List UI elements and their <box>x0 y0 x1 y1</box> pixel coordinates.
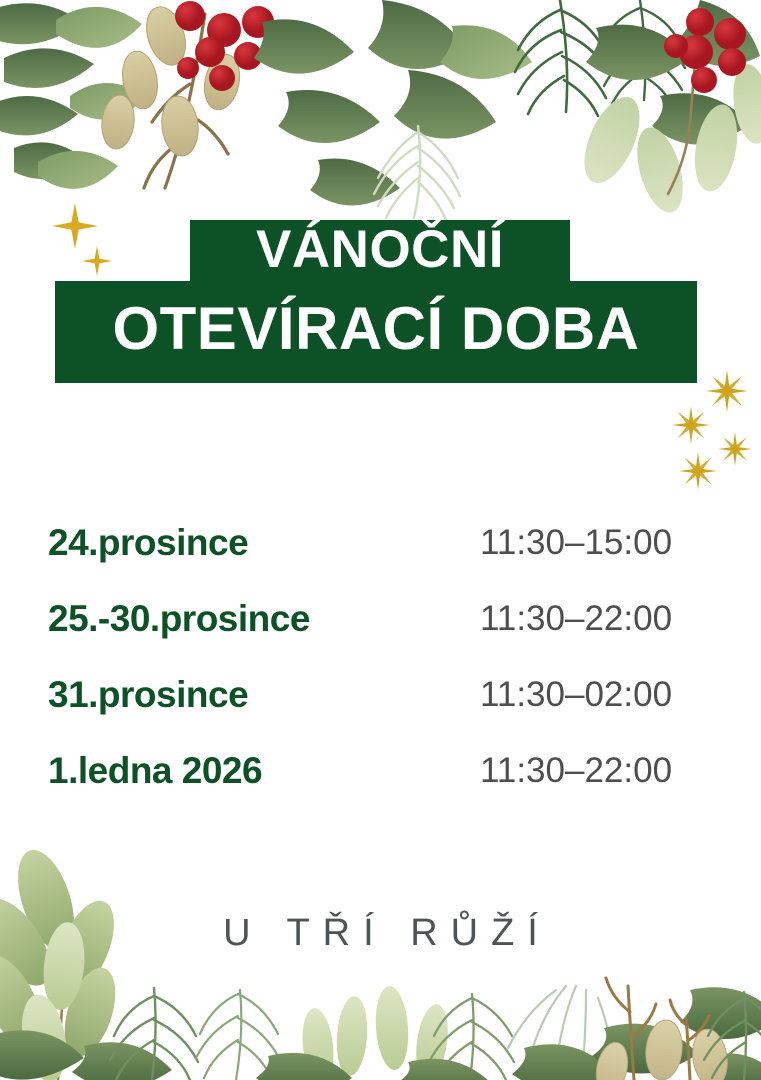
schedule-row: 31.prosince 11:30–02:00 <box>0 657 761 733</box>
botanical-border-bottom <box>0 850 761 1080</box>
top-center-cluster <box>368 0 532 220</box>
botanical-border-top <box>0 0 761 230</box>
sparkle-eight-point-right <box>718 432 752 466</box>
schedule-date: 25.-30.prosince <box>48 598 310 640</box>
title-banner-line1: VÁNOČNÍ <box>190 220 570 283</box>
bottom-center-cluster <box>256 985 514 1080</box>
top-left-cluster <box>0 1 400 206</box>
pine-sprig-right <box>704 992 761 1080</box>
schedule-row: 25.-30.prosince 11:30–22:00 <box>0 581 761 657</box>
sparkle-eight-point-left <box>672 406 710 444</box>
holly-berries-left <box>175 1 274 91</box>
bottom-right-cluster <box>508 978 761 1080</box>
title-banner-line2: OTEVÍRACÍ DOBA <box>55 281 697 383</box>
christmas-opening-hours-poster: VÁNOČNÍ OTEVÍRACÍ DOBA 24.prosince 11:30… <box>0 0 761 1080</box>
holly-berries-right <box>664 8 746 93</box>
opening-hours-schedule: 24.prosince 11:30–15:00 25.-30.prosince … <box>0 505 761 809</box>
sparkle-eight-point-bottom <box>679 452 717 490</box>
pine-sprig-left <box>110 988 198 1080</box>
schedule-time: 11:30–22:00 <box>480 599 672 639</box>
schedule-time: 11:30–02:00 <box>480 675 672 715</box>
schedule-date: 31.prosince <box>48 674 248 716</box>
schedule-time: 11:30–15:00 <box>480 523 672 563</box>
bare-twig <box>606 978 709 1080</box>
schedule-date: 1.ledna 2026 <box>48 750 262 792</box>
spruce-branch <box>515 0 609 116</box>
schedule-row: 1.ledna 2026 11:30–22:00 <box>0 733 761 809</box>
restaurant-logo: U TŘÍ RŮŽÍ <box>0 912 761 955</box>
pine-frond-center <box>374 126 460 220</box>
sparkle-four-point-large <box>52 203 98 249</box>
sparkle-eight-point-top <box>706 370 748 412</box>
top-right-cluster <box>515 0 761 218</box>
sparkle-four-point-small <box>82 246 112 276</box>
schedule-time: 11:30–22:00 <box>480 751 672 791</box>
schedule-date: 24.prosince <box>48 522 248 564</box>
bottom-left-cluster <box>0 850 280 1080</box>
schedule-row: 24.prosince 11:30–15:00 <box>0 505 761 581</box>
pine-sprig-center <box>430 994 514 1080</box>
